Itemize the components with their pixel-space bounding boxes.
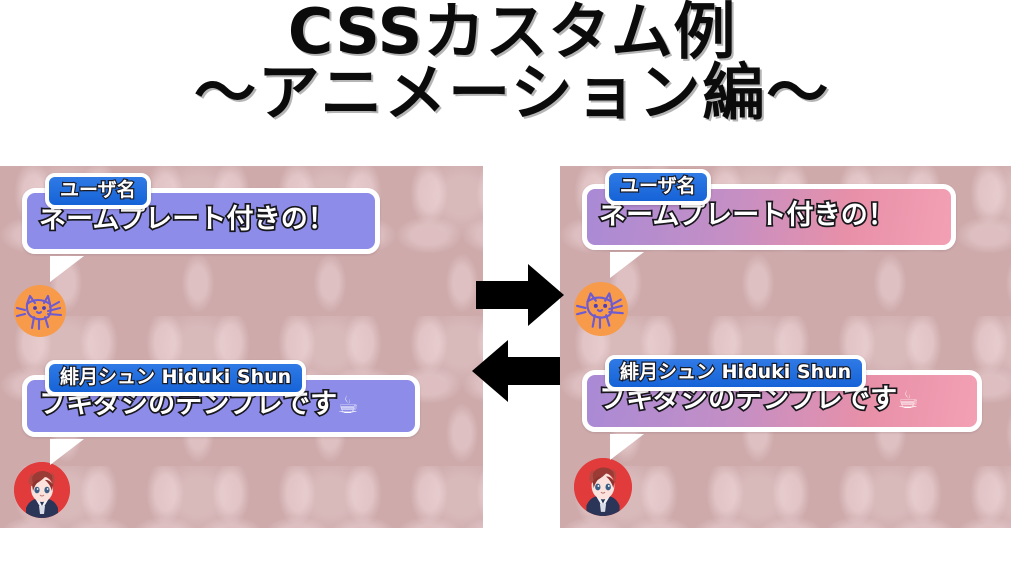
page-title: CSSカスタム例 〜アニメーション編〜 <box>0 2 1024 124</box>
coffee-icon: ☕ <box>337 392 359 419</box>
arrow-left <box>472 340 560 402</box>
bubble-tail-icon <box>50 256 84 282</box>
anime-character-icon <box>14 462 70 518</box>
bubble-tail-icon <box>50 439 84 465</box>
left-panel-static: ユーザ名 ネームプレート付きの！ <box>0 166 483 528</box>
bubble-message-text: ネームプレート付きの！ <box>599 201 895 231</box>
bubble-tail-icon <box>610 252 644 278</box>
cat-doodle-avatar[interactable] <box>14 285 66 337</box>
title-line-primary: CSSカスタム例 <box>0 2 1024 63</box>
character-avatar[interactable] <box>574 458 632 516</box>
right-panel-animated: ユーザ名 ネームプレート付きの！ <box>560 166 1011 528</box>
chat-bubble[interactable]: 緋月シュン Hiduki Shun フキダシのテンプレです ☕ <box>582 370 982 432</box>
bubble-tail-icon <box>610 434 644 460</box>
arrow-right <box>476 264 564 326</box>
chat-row: ユーザ名 ネームプレート付きの！ <box>22 188 380 254</box>
nameplate: ユーザ名 <box>605 169 711 205</box>
character-avatar[interactable] <box>14 462 70 518</box>
nameplate: ユーザ名 <box>45 173 151 209</box>
title-line-secondary: 〜アニメーション編〜 <box>0 63 1024 124</box>
arrow-right-icon <box>476 264 564 326</box>
coffee-icon: ☕ <box>897 387 919 414</box>
chat-row: ユーザ名 ネームプレート付きの！ <box>582 184 956 250</box>
slide-canvas: CSSカスタム例 〜アニメーション編〜 ユーザ名 ネームプレート付きの！ <box>0 0 1024 576</box>
chat-bubble[interactable]: ユーザ名 ネームプレート付きの！ <box>582 184 956 250</box>
anime-character-icon <box>574 458 632 516</box>
nameplate-label: 緋月シュン Hiduki Shun <box>60 366 291 388</box>
bubble-message-text: ネームプレート付きの！ <box>39 205 335 235</box>
nameplate-label: ユーザ名 <box>620 175 696 197</box>
nameplate-label: ユーザ名 <box>60 179 136 201</box>
arrow-left-icon <box>472 340 560 402</box>
chat-row: 緋月シュン Hiduki Shun フキダシのテンプレです ☕ <box>582 370 982 432</box>
cat-doodle-avatar[interactable] <box>574 282 628 336</box>
nameplate: 緋月シュン Hiduki Shun <box>45 360 306 396</box>
chat-bubble[interactable]: ユーザ名 ネームプレート付きの！ <box>22 188 380 254</box>
cat-icon <box>14 285 66 337</box>
nameplate-label: 緋月シュン Hiduki Shun <box>620 361 851 383</box>
cat-icon <box>574 282 628 336</box>
chat-bubble[interactable]: 緋月シュン Hiduki Shun フキダシのテンプレです ☕ <box>22 375 420 437</box>
nameplate: 緋月シュン Hiduki Shun <box>605 355 866 391</box>
chat-row: 緋月シュン Hiduki Shun フキダシのテンプレです ☕ <box>22 375 420 437</box>
